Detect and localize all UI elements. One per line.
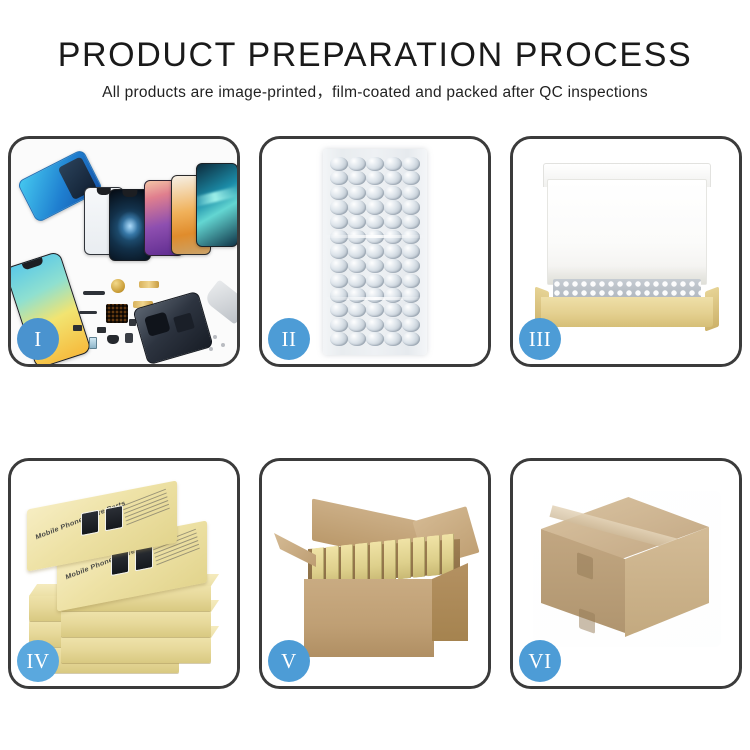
component-chip-grid-icon	[106, 304, 128, 323]
step-badge-4: IV	[17, 640, 59, 682]
process-step-panel-2: II	[259, 136, 491, 367]
box-inner-white-panel-icon	[547, 179, 707, 285]
pouch-seam	[323, 235, 427, 238]
box-front-kraft-icon	[541, 297, 713, 327]
pouch-seam	[323, 297, 427, 300]
component-screw-icon	[209, 347, 213, 351]
component-battery-icon	[89, 337, 97, 349]
component-coin-icon	[111, 279, 125, 293]
process-step-panel-6: VI	[510, 458, 742, 689]
process-step-panel-5: V	[259, 458, 491, 689]
step-badge-3: III	[519, 318, 561, 360]
carton-front-face-icon	[304, 579, 434, 657]
step-badge-6: VI	[519, 640, 561, 682]
box-spec-lines	[123, 489, 172, 534]
phone-screen-teal-icon	[196, 163, 237, 247]
header: PRODUCT PREPARATION PROCESS All products…	[0, 0, 750, 102]
stacked-box	[61, 637, 211, 663]
product-preparation-infographic: PRODUCT PREPARATION PROCESS All products…	[0, 0, 750, 750]
process-step-panel-3: III	[510, 136, 742, 367]
component-block-icon	[73, 325, 82, 331]
page-title: PRODUCT PREPARATION PROCESS	[0, 36, 750, 74]
process-step-panel-4: Mobile Phone Spare Parts Mobile Phone Sp…	[8, 458, 240, 689]
bubble-wrap-pouch-icon	[323, 149, 427, 355]
component-block-icon	[97, 327, 106, 333]
process-step-panel-1: I	[8, 136, 240, 367]
step-badge-5: V	[268, 640, 310, 682]
stacked-box	[61, 611, 211, 637]
component-strip-icon	[83, 291, 105, 295]
box-screen-image-icon	[105, 505, 123, 531]
component-camera-icon	[125, 333, 133, 343]
bubble-grid	[330, 157, 420, 347]
box-screen-image-icon	[81, 510, 99, 536]
step-badge-2: II	[268, 318, 310, 360]
component-cable-icon	[79, 311, 97, 314]
page-subtitle: All products are image-printed，film-coat…	[0, 83, 750, 102]
notch-icon	[122, 190, 137, 197]
component-flex-cable-icon	[139, 281, 159, 288]
step-badge-1: I	[17, 318, 59, 360]
component-screw-icon	[213, 335, 217, 339]
component-speaker-icon	[107, 335, 119, 344]
process-step-grid: I	[8, 136, 742, 689]
component-screw-icon	[221, 343, 225, 347]
